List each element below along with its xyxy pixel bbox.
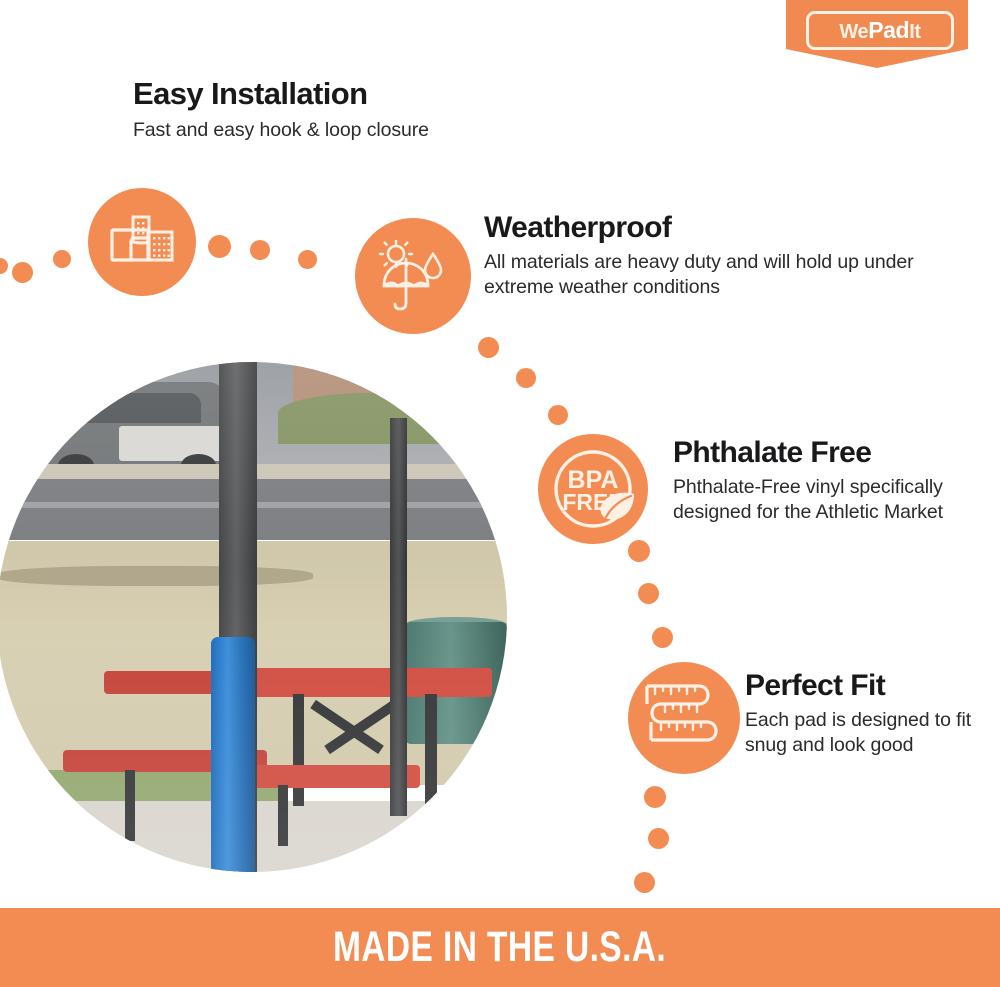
feature-block-weatherproof: Weatherproof All materials are heavy dut… [484, 212, 914, 301]
logo-text: WePadIt [839, 19, 920, 42]
feature-desc: Phthalate-Free vinyl specifically design… [673, 475, 973, 526]
trail-dot [298, 250, 317, 269]
trail-dot [516, 368, 536, 388]
trail-dot [208, 235, 231, 258]
infographic-root: WePadIt Easy Installation Fast and easy … [0, 0, 1000, 987]
feature-block-perfect-fit: Perfect Fit Each pad is designed to fit … [745, 670, 985, 759]
feature-desc: Each pad is designed to fit snug and loo… [745, 708, 985, 759]
trail-dot [634, 872, 655, 893]
trail-dot [478, 337, 499, 358]
bpa-free-leaf-icon: BPA FREE [538, 434, 648, 544]
feature-desc: Fast and easy hook & loop closure [133, 118, 573, 144]
trail-dot [12, 262, 33, 283]
photo-scene [0, 362, 507, 872]
measuring-tape-icon-glyph [641, 678, 727, 758]
made-in-usa-text: MADE IN THE U.S.A. [333, 923, 666, 972]
photo-overlay [0, 362, 507, 872]
made-in-usa-banner: MADE IN THE U.S.A. [0, 908, 1000, 987]
logo-text-it: It [909, 21, 920, 43]
trail-dot [548, 405, 568, 425]
logo-text-we: We [839, 21, 868, 43]
measuring-tape-icon [628, 662, 740, 774]
bpa-free-leaf-icon-glyph: BPA FREE [538, 434, 648, 544]
trail-dot [648, 828, 669, 849]
trail-dot [53, 250, 71, 268]
feature-block-easy-installation: Easy Installation Fast and easy hook & l… [133, 78, 573, 143]
brand-logo: WePadIt [786, 0, 968, 68]
umbrella-sun-rain-icon [355, 218, 471, 334]
logo-outline-box: WePadIt [806, 11, 954, 50]
hook-and-loop-icon-glyph [109, 214, 175, 270]
logo-text-pad: Pad [868, 17, 909, 43]
feature-title: Weatherproof [484, 212, 914, 244]
trail-dot [250, 240, 270, 260]
hook-and-loop-icon [88, 188, 196, 296]
trail-dot [0, 258, 8, 274]
feature-desc: All materials are heavy duty and will ho… [484, 250, 914, 301]
trail-dot [652, 627, 673, 648]
feature-title: Perfect Fit [745, 670, 985, 702]
umbrella-sun-rain-icon-glyph [376, 240, 450, 312]
product-photo [0, 362, 507, 872]
trail-dot [644, 786, 666, 808]
feature-title: Phthalate Free [673, 437, 973, 469]
feature-title: Easy Installation [133, 78, 573, 111]
feature-block-phthalate-free: Phthalate Free Phthalate-Free vinyl spec… [673, 437, 973, 526]
trail-dot [638, 583, 659, 604]
